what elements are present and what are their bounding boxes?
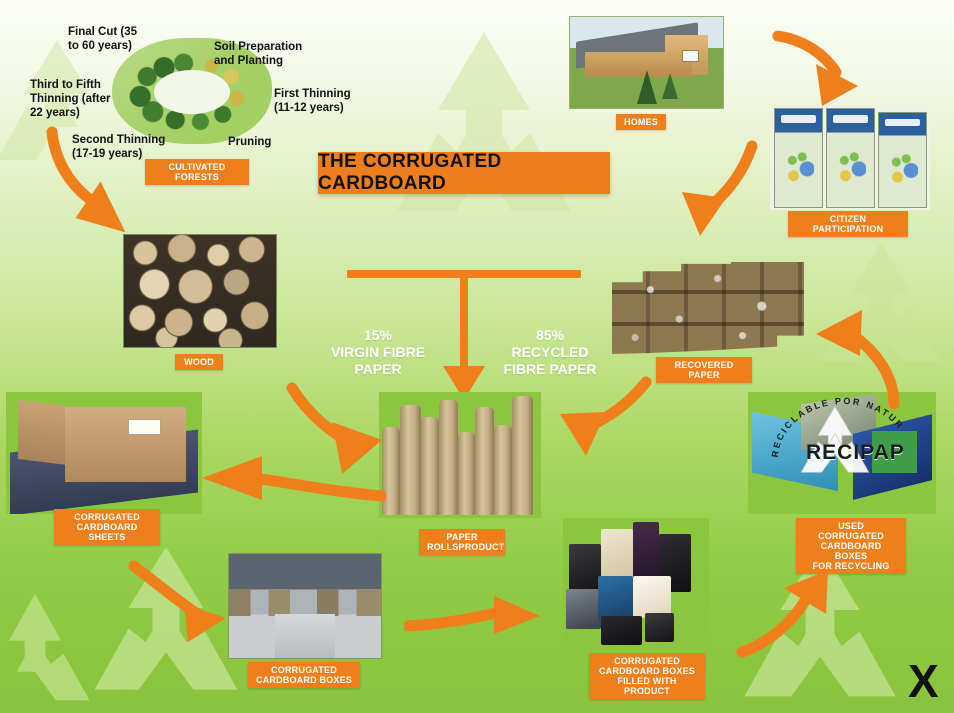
label-cultivated-forests: CULTIVATED FORESTS (145, 159, 249, 185)
label-wood: WOOD (175, 354, 223, 370)
arrow-homes-to-citizen (770, 24, 860, 110)
forest-stage-soil-preparation: Soil Preparation and Planting (214, 41, 302, 69)
split-stem (460, 270, 468, 370)
forest-stage-third-fifth-thinning: Third to Fifth Thinning (after 22 years) (30, 79, 111, 120)
label-citizen-participation: CITIZEN PARTICIPATION (788, 211, 908, 237)
forest-stage-pruning: Pruning (228, 136, 271, 150)
paper-rolls-photo (379, 392, 541, 518)
label-corrugated-sheets: CORRUGATED CARDBOARD SHEETS (54, 509, 160, 545)
recipap-brand: RECIPAP (806, 441, 905, 465)
recipap-ring-text: RECICLABLE POR NATURALEZA (770, 388, 910, 480)
corrugated-sheets-photo (6, 392, 202, 514)
arrow-citizen-to-recovered-paper (656, 140, 766, 250)
corrugated-boxes-photo (228, 553, 382, 659)
recycle-watermark-icon-right (806, 232, 954, 384)
split-right-recycled-fibre: 85% RECYCLED FIBRE PAPER (488, 327, 612, 378)
recycle-watermark-icon-center (368, 18, 600, 248)
corner-watermark: X (908, 658, 939, 704)
arrow-recovered-paper-to-rolls (548, 372, 656, 468)
forest-stage-second-thinning: Second Thinning (17-19 years) (72, 134, 165, 162)
forest-stage-final-cut: Final Cut (35 to 60 years) (68, 26, 137, 54)
label-corrugated-boxes: CORRUGATED CARDBOARD BOXES (248, 662, 360, 688)
recovered-paper-photo (612, 262, 804, 354)
label-boxes-filled-with-product: CORRUGATED CARDBOARD BOXES FILLED WITH P… (589, 653, 705, 699)
label-homes: HOMES (616, 114, 666, 130)
label-used-boxes-for-recycling: USED CORRUGATED CARDBOARD BOXES FOR RECY… (796, 518, 906, 574)
label-recovered-paper: RECOVERED PAPER (656, 357, 752, 383)
label-paper-rolls: PAPER ROLLSPRODUCT (419, 529, 505, 555)
arrow-boxes-to-filled (404, 596, 544, 648)
forest-stage-first-thinning: First Thinning (11-12 years) (274, 88, 351, 116)
recycle-watermark-icon-bottom-far-left (0, 586, 100, 713)
wood-photo (123, 234, 277, 348)
homes-photo (569, 16, 724, 109)
boxes-filled-with-product-photo (563, 518, 709, 650)
arrow-sheets-to-boxes (126, 560, 236, 650)
page-title: THE CORRUGATED CARDBOARD (318, 152, 610, 194)
arrow-rolls-to-sheets (186, 452, 386, 512)
split-left-virgin-fibre: 15% VIRGIN FIBRE PAPER (316, 327, 440, 378)
infographic-canvas: Final Cut (35 to 60 years) Soil Preparat… (0, 0, 954, 713)
